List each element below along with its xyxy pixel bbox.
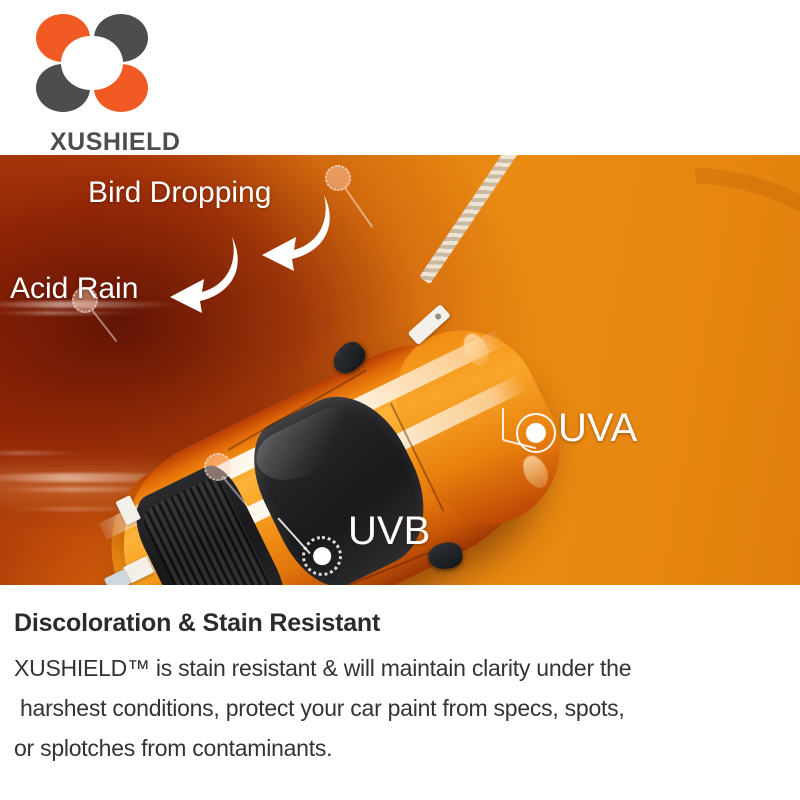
callout-label-uva: UVA	[558, 406, 637, 451]
product-feature-banner: XUSHIELD	[0, 0, 800, 800]
brand-name: XUSHIELD	[50, 128, 180, 157]
feature-title: Discoloration & Stain Resistant	[14, 585, 786, 638]
feature-copy: Discoloration & Stain Resistant XUSHIELD…	[0, 585, 800, 800]
hero-image: Bird Dropping Acid Rain UVA UVB	[0, 155, 800, 585]
logo-quadrant-bottom-left	[36, 64, 90, 112]
callout-label-bird-dropping: Bird Dropping	[88, 176, 271, 210]
feature-description-line: or splotches from contaminants.	[14, 728, 786, 768]
callout-marker-uvb[interactable]	[302, 536, 342, 576]
arrow-curved-bird-dropping	[246, 193, 336, 273]
feature-description-line: harshest conditions, protect your car pa…	[14, 688, 786, 728]
callout-marker-uva[interactable]	[516, 413, 556, 453]
xushield-logo-icon	[36, 14, 148, 112]
callout-label-acid-rain: Acid Rain	[10, 272, 138, 306]
logo-quadrant-bottom-right	[94, 64, 148, 112]
logo-quadrant-top-left	[36, 14, 90, 62]
logo-quadrant-top-right	[94, 14, 148, 62]
feature-description-line: XUSHIELD™ is stain resistant & will main…	[14, 648, 786, 688]
callout-marker-lower-left[interactable]	[204, 453, 232, 481]
callout-leader-line-uva	[502, 408, 504, 440]
callout-marker-bird[interactable]	[325, 165, 351, 191]
callout-label-uvb: UVB	[348, 509, 430, 554]
feature-description: XUSHIELD™ is stain resistant & will main…	[14, 648, 786, 768]
brand-logo[interactable]: XUSHIELD	[28, 14, 158, 144]
brand-header: XUSHIELD	[0, 0, 800, 155]
arrow-curved-acid-rain	[154, 235, 244, 315]
